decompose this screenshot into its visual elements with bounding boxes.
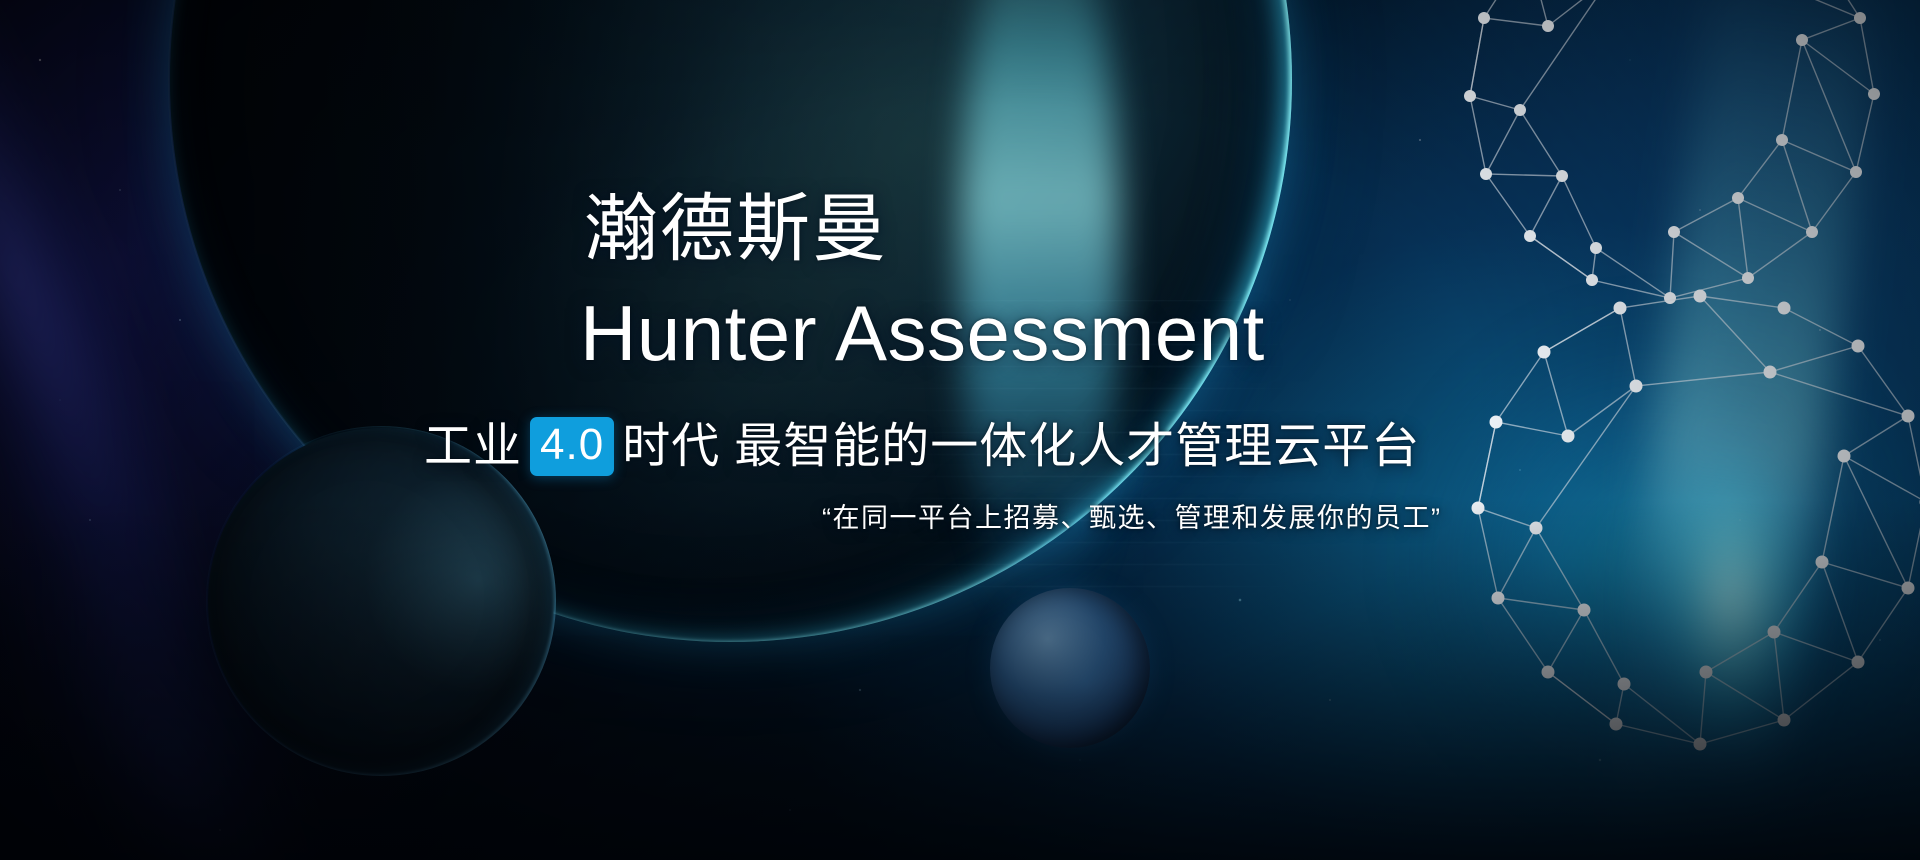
tagline-prefix: 工业 [424, 423, 522, 471]
tagline-primary: 工业 4.0 时代 最智能的一体化人才管理云平台 [424, 417, 1420, 476]
industry-version-badge: 4.0 [530, 417, 614, 476]
hero-copy: 瀚德斯曼 Hunter Assessment 工业 4.0 时代 最智能的一体化… [0, 0, 1920, 860]
brand-name-en: Hunter Assessment [580, 290, 1265, 377]
hero-banner: 瀚德斯曼 Hunter Assessment 工业 4.0 时代 最智能的一体化… [0, 0, 1920, 860]
tagline-secondary: “在同一平台上招募、甄选、管理和发展你的员工” [822, 505, 1441, 532]
brand-name-cn: 瀚德斯曼 [584, 190, 888, 268]
tagline-middle: 时代 [622, 423, 720, 471]
tagline-suffix: 最智能的一体化人才管理云平台 [734, 423, 1420, 471]
